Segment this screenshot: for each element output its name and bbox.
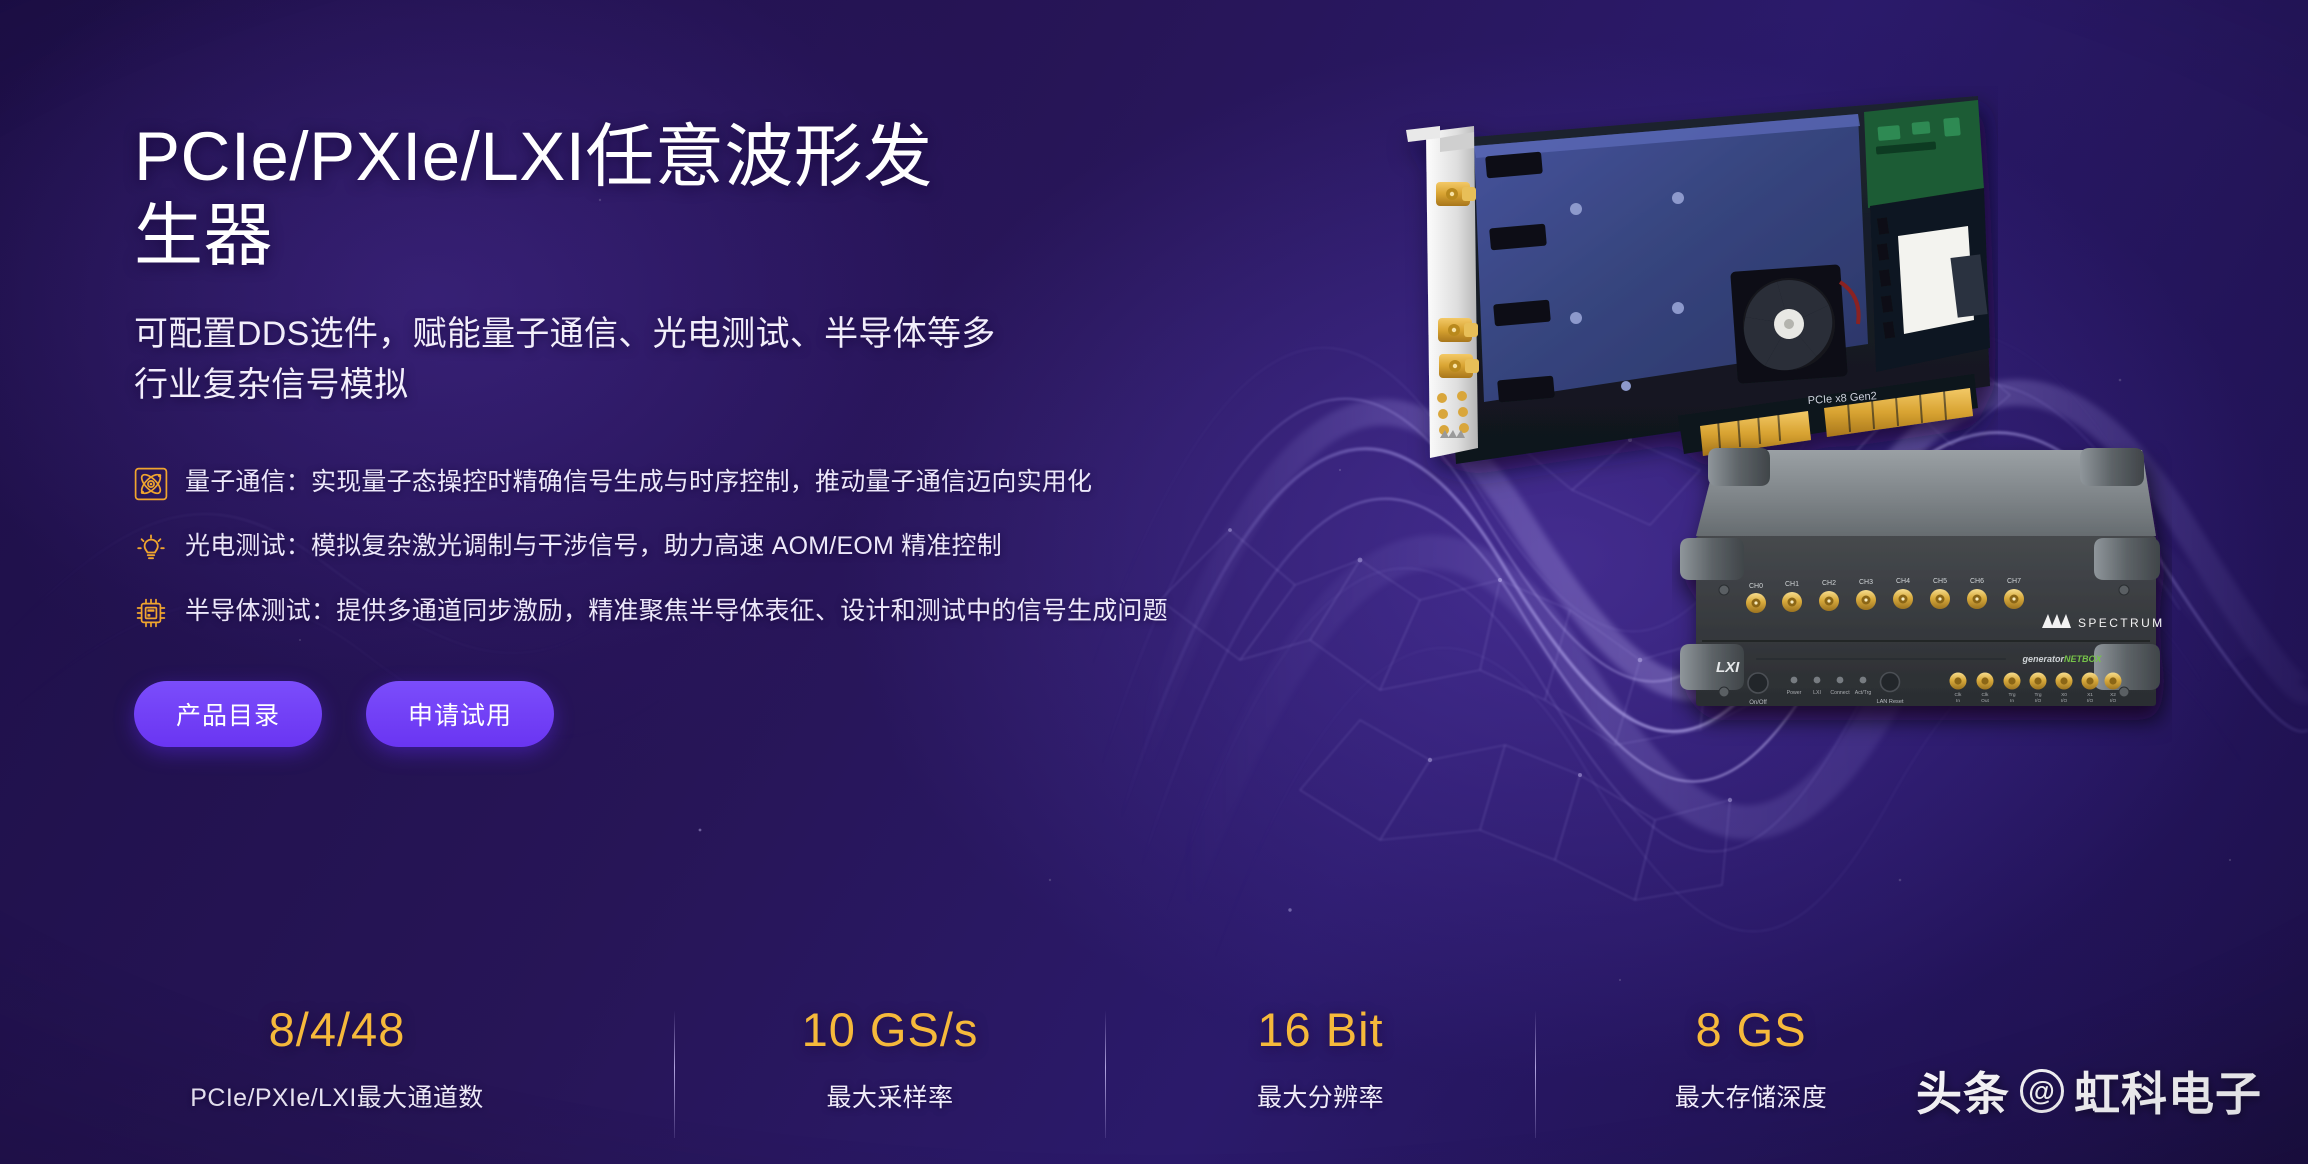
svg-text:Out: Out [1981, 698, 1989, 704]
cta-button-row: 产品目录 申请试用 [134, 681, 1224, 747]
svg-text:X1: X1 [2087, 692, 2093, 698]
stat-item-channels: 8/4/48 PCIe/PXIe/LXI最大通道数 [0, 1004, 674, 1114]
svg-text:Clk: Clk [1982, 692, 1990, 698]
netbox-lan-reset-label: LAN Reset [1876, 699, 1903, 705]
feature-list: 量子通信：实现量子态操控时精确信号生成与时序控制，推动量子通信迈向实用化 [134, 462, 1224, 632]
watermark-account: 虹科电子 [2074, 1058, 2262, 1124]
stat-value: 10 GS/s [675, 1004, 1105, 1056]
svg-text:Power: Power [1787, 690, 1802, 696]
netbox-ch-label: CH5 [1933, 578, 1947, 585]
hero-banner: PCIe x8 Gen2 [0, 0, 2308, 1164]
svg-text:LXI: LXI [1813, 690, 1821, 696]
watermark: 头条 @ 虹科电子 [1916, 1058, 2262, 1124]
svg-text:Clk: Clk [1955, 692, 1963, 698]
netbox-lan-reset-button[interactable] [1881, 673, 1900, 692]
page-subtitle: 可配置DDS选件，赋能量子通信、光电测试、半导体等多 行业复杂信号模拟 [134, 309, 1224, 410]
svg-text:I/O: I/O [2035, 698, 2042, 704]
hero-content: PCIe/PXIe/LXI任意波形发 生器 可配置DDS选件，赋能量子通信、光电… [134, 118, 1224, 747]
svg-text:I/O: I/O [2110, 698, 2117, 704]
stat-value: 8 GS [1536, 1004, 1966, 1056]
list-item: 光电测试：模拟复杂激光调制与干涉信号，助力高速 AOM/EOM 精准控制 [134, 526, 1224, 567]
list-item-label: 量子通信：实现量子态操控时精确信号生成与时序控制，推动量子通信迈向实用化 [185, 462, 1092, 503]
spectrum-wordmark: SPECTRUM [2078, 616, 2165, 630]
list-item-label: 半导体测试：提供多通道同步激励，精准聚焦半导体表征、设计和测试中的信号生成问题 [185, 591, 1168, 632]
svg-text:Trg: Trg [2008, 692, 2015, 698]
page-title: PCIe/PXIe/LXI任意波形发 生器 [134, 118, 1224, 275]
svg-text:Connect: Connect [1830, 690, 1850, 696]
stat-label: 最大存储深度 [1536, 1078, 1966, 1114]
netbox-ch-label: CH0 [1749, 583, 1763, 590]
svg-text:In: In [2010, 698, 2014, 704]
svg-text:In: In [1956, 698, 1960, 704]
atom-icon [134, 467, 168, 501]
svg-text:Trg: Trg [2034, 692, 2041, 698]
lightbulb-icon [134, 531, 168, 565]
watermark-platform: 头条 [1916, 1058, 2010, 1124]
stat-value: 16 Bit [1106, 1004, 1535, 1056]
product-catalog-button[interactable]: 产品目录 [134, 681, 322, 747]
netbox-power-button[interactable] [1748, 673, 1768, 693]
netbox-ch-label: CH3 [1859, 579, 1873, 586]
netbox-device-image: CH0 CH1 CH2 CH3 CH4 CH5 CH6 CH7 [1672, 440, 2172, 750]
chip-icon [134, 596, 168, 630]
netbox-ch-label: CH4 [1896, 578, 1910, 585]
request-trial-button[interactable]: 申请试用 [366, 681, 554, 747]
svg-text:I/O: I/O [2061, 698, 2068, 704]
stat-item-memory: 8 GS 最大存储深度 [1536, 1004, 1966, 1114]
svg-text:Act/Trg: Act/Trg [1855, 690, 1872, 696]
list-item-label: 光电测试：模拟复杂激光调制与干涉信号，助力高速 AOM/EOM 精准控制 [185, 526, 1002, 567]
svg-text:I/O: I/O [2087, 698, 2094, 704]
stat-item-sample-rate: 10 GS/s 最大采样率 [675, 1004, 1105, 1114]
list-item: 量子通信：实现量子态操控时精确信号生成与时序控制，推动量子通信迈向实用化 [134, 462, 1224, 503]
list-item: 半导体测试：提供多通道同步激励，精准聚焦半导体表征、设计和测试中的信号生成问题 [134, 591, 1224, 632]
netbox-ch-label: CH2 [1822, 580, 1836, 587]
svg-text:X2: X2 [2110, 692, 2116, 698]
netbox-power-label: On/Off [1749, 700, 1767, 706]
svg-text:X0: X0 [2061, 692, 2067, 698]
netbox-ch-label: CH6 [1970, 578, 1984, 585]
stat-value: 8/4/48 [0, 1004, 674, 1056]
stat-item-resolution: 16 Bit 最大分辨率 [1106, 1004, 1535, 1114]
netbox-ch-label: CH1 [1785, 581, 1799, 588]
netbox-ch-label: CH7 [2007, 578, 2021, 585]
stat-label: 最大分辨率 [1106, 1078, 1535, 1114]
at-icon: @ [2020, 1069, 2064, 1113]
stat-label: 最大采样率 [675, 1078, 1105, 1114]
stat-label: PCIe/PXIe/LXI最大通道数 [0, 1078, 674, 1114]
netbox-model-label: generatorNETBOX [2021, 654, 2102, 664]
lxi-logo: LXI [1716, 659, 1740, 676]
